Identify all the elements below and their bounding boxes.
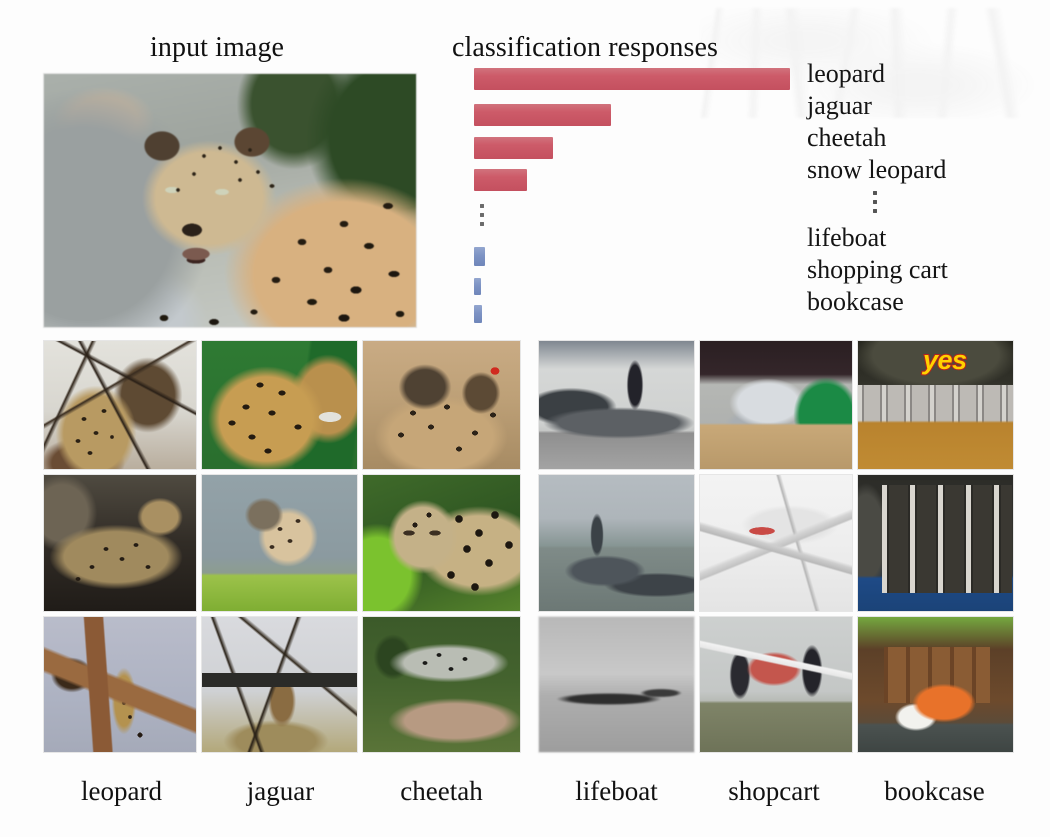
thumbnail-grid-objects: yes (539, 341, 1013, 752)
thumbnail-grid-animals (44, 341, 520, 752)
thumbnail-leopard-resting-dark (44, 475, 196, 611)
input-image-heading: input image (150, 32, 284, 64)
bar-truncation-ellipsis (480, 204, 485, 231)
thumbnail-leopard-hanging-branch (44, 617, 196, 752)
response-label-ellipsis (807, 186, 1037, 222)
response-label-lifeboat: lifeboat (807, 222, 1037, 254)
thumbnail-jaguar-on-log (202, 617, 357, 752)
thumbnail-person-at-bookcase (858, 617, 1013, 752)
classification-response-bar-chart (474, 64, 804, 324)
thumbnail-carts-green-wall (700, 341, 852, 469)
bar-jaguar (474, 104, 611, 126)
caption-leopard: leopard (44, 776, 199, 807)
thumbnail-harbor-boats (539, 475, 694, 611)
bar-leopard (474, 68, 790, 90)
classification-responses-heading: classification responses (452, 32, 718, 64)
response-label-cheetah: cheetah (807, 122, 1037, 154)
thumbnail-cheetahs-on-sand (363, 341, 520, 469)
response-label-leopard: leopard (807, 58, 1037, 90)
response-label-shopping-cart: shopping cart (807, 254, 1037, 286)
response-label-snow-leopard: snow leopard (807, 154, 1037, 186)
thumbnail-boat-grayscale-water (539, 617, 694, 752)
thumbnail-submarine-lifeboat (539, 341, 694, 469)
caption-cheetah: cheetah (363, 776, 520, 807)
thumbnail-jaguar-cub-grass (202, 475, 357, 611)
bar-shopping-cart (474, 278, 481, 295)
thumbnail-people-with-cart (700, 617, 852, 752)
bar-lifeboat (474, 247, 485, 266)
response-label-bookcase: bookcase (807, 286, 1037, 318)
thumbnail-cheetah-with-prey (363, 617, 520, 752)
thumbnail-jaguar-closeup-green (202, 341, 357, 469)
caption-bookcase: bookcase (856, 776, 1013, 807)
column-caption-row: leopard jaguar cheetah lifeboat shopcart… (0, 776, 1050, 820)
caption-lifeboat: lifeboat (539, 776, 694, 807)
input-image-photo (44, 74, 416, 327)
bar-cheetah (474, 137, 553, 159)
response-label-column: leopard jaguar cheetah snow leopard life… (807, 58, 1037, 318)
response-label-jaguar: jaguar (807, 90, 1037, 122)
thumbnail-bookcase-shelves: yes (858, 341, 1013, 469)
yes-overlay-label: yes (923, 345, 967, 376)
thumbnail-library-bookshelves (858, 475, 1013, 611)
caption-shopcart: shopcart (697, 776, 851, 807)
bar-snow-leopard (474, 169, 527, 191)
thumbnail-cheetah-face-green (363, 475, 520, 611)
bar-bookcase (474, 305, 482, 323)
thumbnail-shopping-cart-white (700, 475, 852, 611)
thumbnail-leopard-in-tree (44, 341, 196, 469)
caption-jaguar: jaguar (203, 776, 358, 807)
figure-canvas: input image classification responses leo… (0, 0, 1050, 837)
